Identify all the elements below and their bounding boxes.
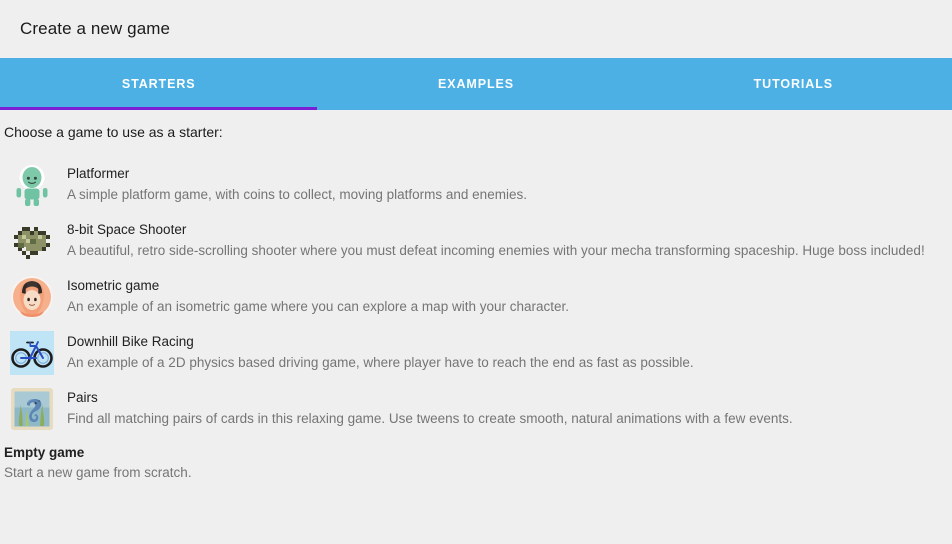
tab-tutorials[interactable]: TUTORIALS bbox=[635, 58, 952, 110]
list-item-description: A beautiful, retro side-scrolling shoote… bbox=[67, 241, 925, 260]
starter-game-list: Platformer A simple platform game, with … bbox=[0, 156, 952, 436]
list-item-text: Isometric game An example of an isometri… bbox=[67, 273, 569, 316]
pixel-spaceship-icon bbox=[10, 219, 54, 263]
green-alien-character-icon bbox=[10, 163, 54, 207]
tab-examples[interactable]: EXAMPLES bbox=[317, 58, 634, 110]
list-item-text: Platformer A simple platform game, with … bbox=[67, 161, 527, 204]
list-item-description: An example of an isometric game where yo… bbox=[67, 297, 569, 316]
list-item-title: Platformer bbox=[67, 165, 527, 183]
list-item-title: Isometric game bbox=[67, 277, 569, 295]
list-item[interactable]: Downhill Bike Racing An example of a 2D … bbox=[0, 324, 952, 380]
tab-starters[interactable]: STARTERS bbox=[0, 58, 317, 110]
active-tab-indicator bbox=[0, 107, 317, 110]
bicycle-icon bbox=[10, 331, 54, 375]
tab-tutorials-label: TUTORIALS bbox=[754, 77, 833, 91]
list-item[interactable]: 8-bit Space Shooter A beautiful, retro s… bbox=[0, 212, 952, 268]
list-item[interactable]: Platformer A simple platform game, with … bbox=[0, 156, 952, 212]
seahorse-card-icon bbox=[10, 387, 54, 431]
list-item-description: A simple platform game, with coins to co… bbox=[67, 185, 527, 204]
list-item-text: Pairs Find all matching pairs of cards i… bbox=[67, 385, 793, 428]
list-item-title: Pairs bbox=[67, 389, 793, 407]
dialog-header: Create a new game bbox=[0, 0, 952, 58]
choose-game-label: Choose a game to use as a starter: bbox=[0, 110, 952, 140]
tab-starters-label: STARTERS bbox=[122, 77, 196, 91]
list-item-description: Find all matching pairs of cards in this… bbox=[67, 409, 793, 428]
empty-game-item[interactable]: Empty game Start a new game from scratch… bbox=[0, 436, 952, 482]
list-item-text: 8-bit Space Shooter A beautiful, retro s… bbox=[67, 217, 925, 260]
empty-game-description: Start a new game from scratch. bbox=[4, 463, 952, 482]
list-item-title: Downhill Bike Racing bbox=[67, 333, 694, 351]
list-item-description: An example of a 2D physics based driving… bbox=[67, 353, 694, 372]
page-title: Create a new game bbox=[20, 19, 170, 39]
tab-examples-label: EXAMPLES bbox=[438, 77, 514, 91]
list-item[interactable]: Pairs Find all matching pairs of cards i… bbox=[0, 380, 952, 436]
starters-panel: Choose a game to use as a starter: Platf… bbox=[0, 110, 952, 482]
list-item[interactable]: Isometric game An example of an isometri… bbox=[0, 268, 952, 324]
list-item-text: Downhill Bike Racing An example of a 2D … bbox=[67, 329, 694, 372]
list-item-title: 8-bit Space Shooter bbox=[67, 221, 925, 239]
character-avatar-icon bbox=[10, 275, 54, 319]
tab-bar: STARTERS EXAMPLES TUTORIALS bbox=[0, 58, 952, 110]
empty-game-title: Empty game bbox=[4, 443, 952, 462]
